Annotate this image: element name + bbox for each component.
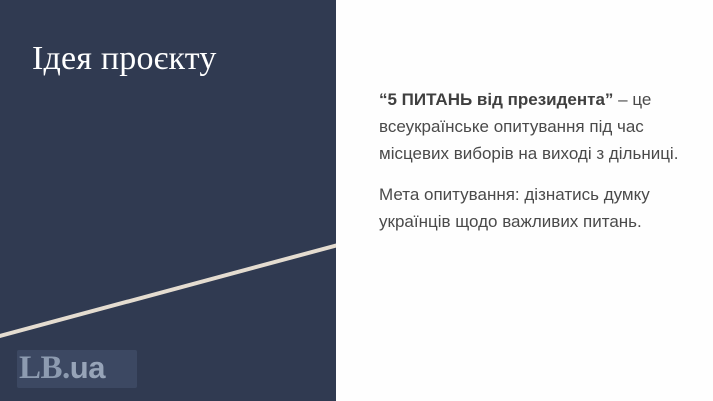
paragraph-survey-goal: Мета опитування: дізнатись думку українц… bbox=[379, 181, 693, 235]
logo-mark: LB. bbox=[19, 350, 70, 386]
body-text-block: “5 ПИТАНЬ від президента” – це всеукраїн… bbox=[379, 86, 693, 235]
content-panel: “5 ПИТАНЬ від президента” – це всеукраїн… bbox=[336, 0, 713, 401]
diagonal-accent-line-icon bbox=[0, 230, 336, 350]
paragraph-body-2: Мета опитування: дізнатись думку українц… bbox=[379, 185, 650, 231]
page-title: Ідея проєкту bbox=[32, 39, 322, 79]
logo-text: LB.ua bbox=[17, 351, 105, 385]
paragraph-lead-quoted-title: “5 ПИТАНЬ від президента” bbox=[379, 90, 613, 109]
presentation-slide: Ідея проєкту LB.ua “5 ПИТАНЬ від президе… bbox=[0, 0, 713, 401]
title-panel: Ідея проєкту LB.ua bbox=[0, 0, 336, 401]
logo-tld: ua bbox=[70, 350, 105, 385]
lb-ua-logo: LB.ua bbox=[17, 350, 137, 388]
paragraph-project-description: “5 ПИТАНЬ від президента” – це всеукраїн… bbox=[379, 86, 693, 167]
